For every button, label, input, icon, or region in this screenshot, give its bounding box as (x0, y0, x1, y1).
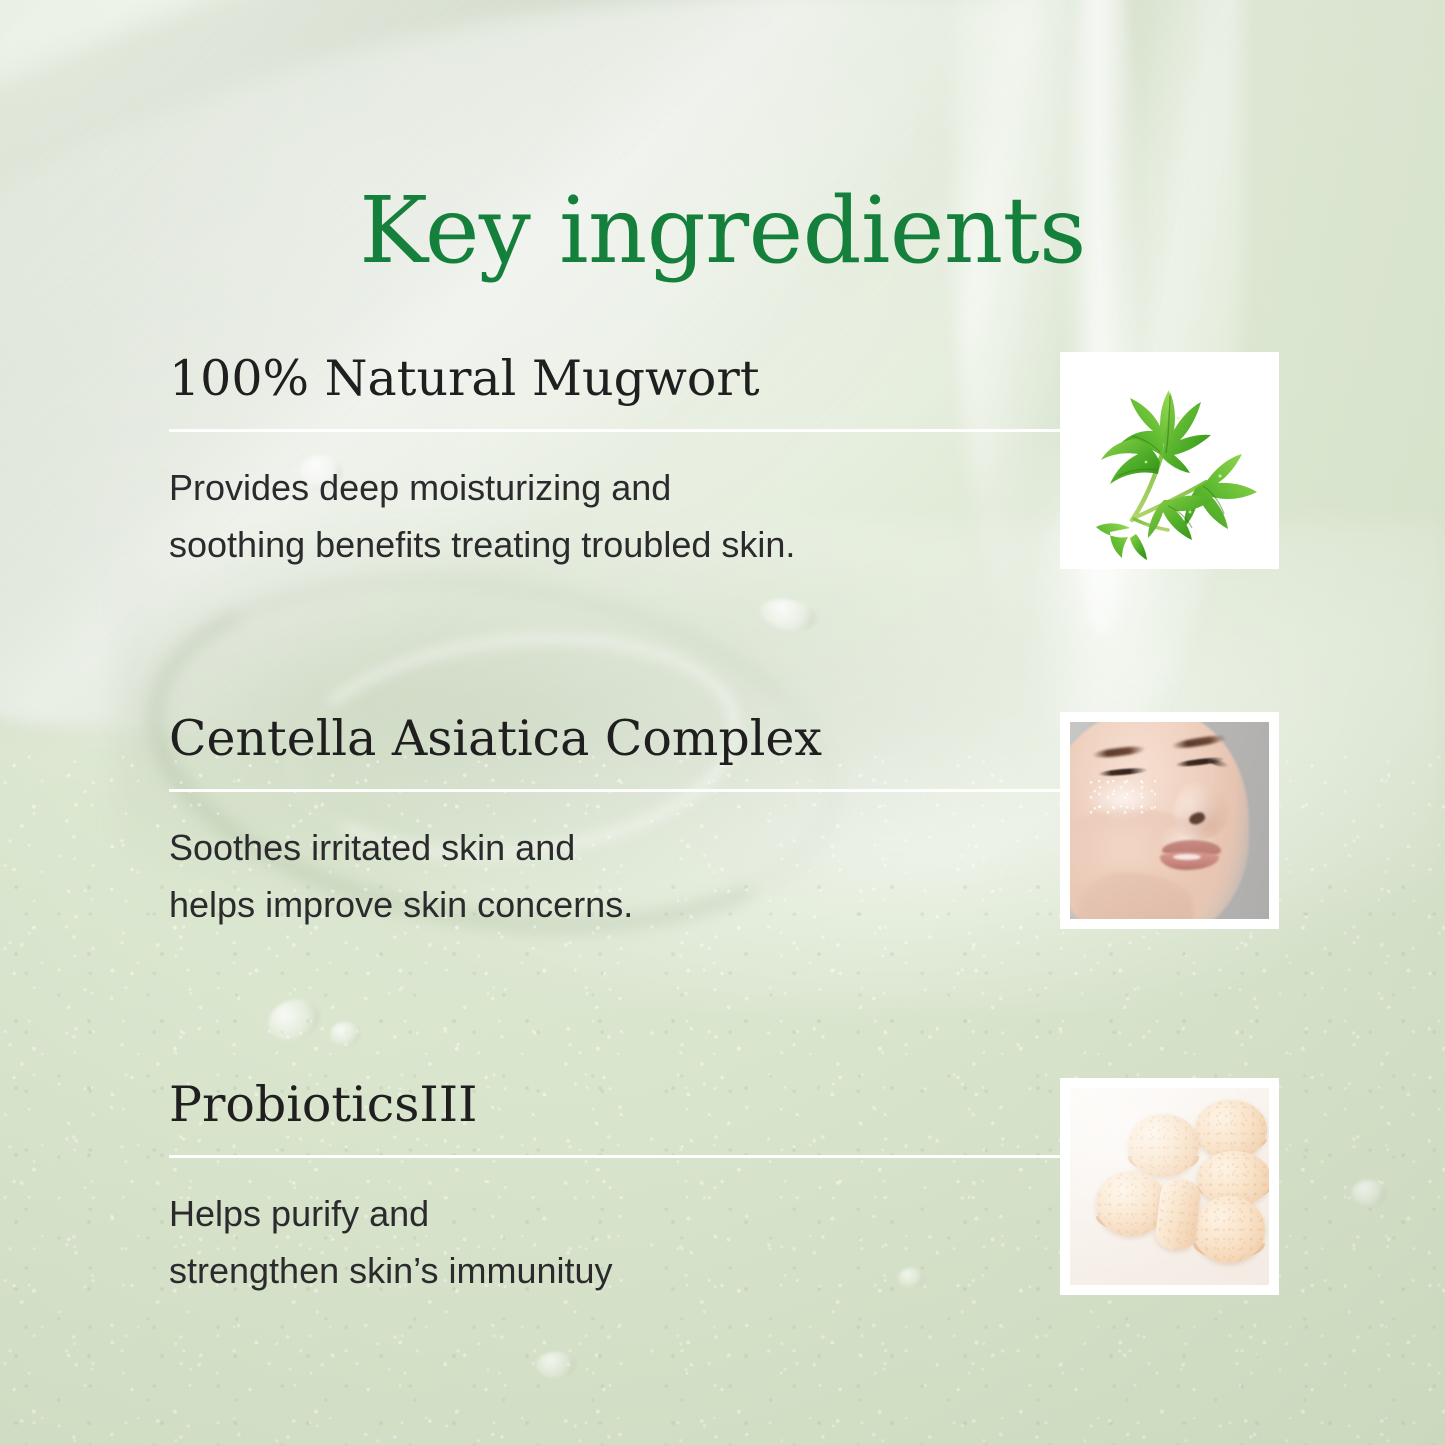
ingredient-name: ProbioticsIII (169, 1078, 1061, 1133)
probiotic-tablets-photo (1060, 1078, 1279, 1295)
tablet (1195, 1100, 1267, 1159)
key-ingredients-infographic: Key ingredients 100% Natural Mugwort Pro… (0, 0, 1445, 1445)
ingredient-description-line: helps improve skin concerns. (169, 876, 1061, 934)
ingredient-name: Centella Asiatica Complex (169, 712, 1061, 767)
ingredient-text: 100% Natural Mugwort Provides deep moist… (169, 352, 1061, 574)
photo-inner (1060, 352, 1279, 569)
ingredient-divider (169, 429, 1061, 432)
ingredient-divider (169, 1155, 1061, 1158)
tablet (1128, 1114, 1200, 1177)
ingredient-description: Helps purify and strengthen skin’s immun… (169, 1185, 1061, 1300)
photo-inner (1070, 1088, 1269, 1285)
ingredient-description-line: strengthen skin’s immunituy (169, 1242, 1061, 1300)
photo-inner (1070, 722, 1269, 919)
tablet (1193, 1196, 1265, 1263)
ingredient-description: Provides deep moisturizing and soothing … (169, 459, 1061, 574)
content-layer: Key ingredients 100% Natural Mugwort Pro… (0, 0, 1445, 1445)
tablet-on-edge (1153, 1176, 1201, 1251)
ingredient-description-line: soothing benefits treating troubled skin… (169, 516, 1061, 574)
ingredient-divider (169, 789, 1061, 792)
mugwort-leaves-icon (1060, 352, 1279, 569)
skin-shimmer (1088, 779, 1156, 818)
ingredient-description-line: Provides deep moisturizing and (169, 459, 1061, 517)
lip-gloss-highlight (1173, 854, 1201, 860)
ingredient-description-line: Helps purify and (169, 1185, 1061, 1243)
ingredient-text: Centella Asiatica Complex Soothes irrita… (169, 712, 1061, 934)
page-title: Key ingredients (0, 181, 1445, 280)
mugwort-leaves-photo (1060, 352, 1279, 569)
ingredient-description-line: Soothes irritated skin and (169, 819, 1061, 877)
glowing-face-photo (1060, 712, 1279, 929)
ingredient-name: 100% Natural Mugwort (169, 352, 1061, 407)
ingredient-description: Soothes irritated skin and helps improve… (169, 819, 1061, 934)
ingredient-text: ProbioticsIII Helps purify and strengthe… (169, 1078, 1061, 1300)
